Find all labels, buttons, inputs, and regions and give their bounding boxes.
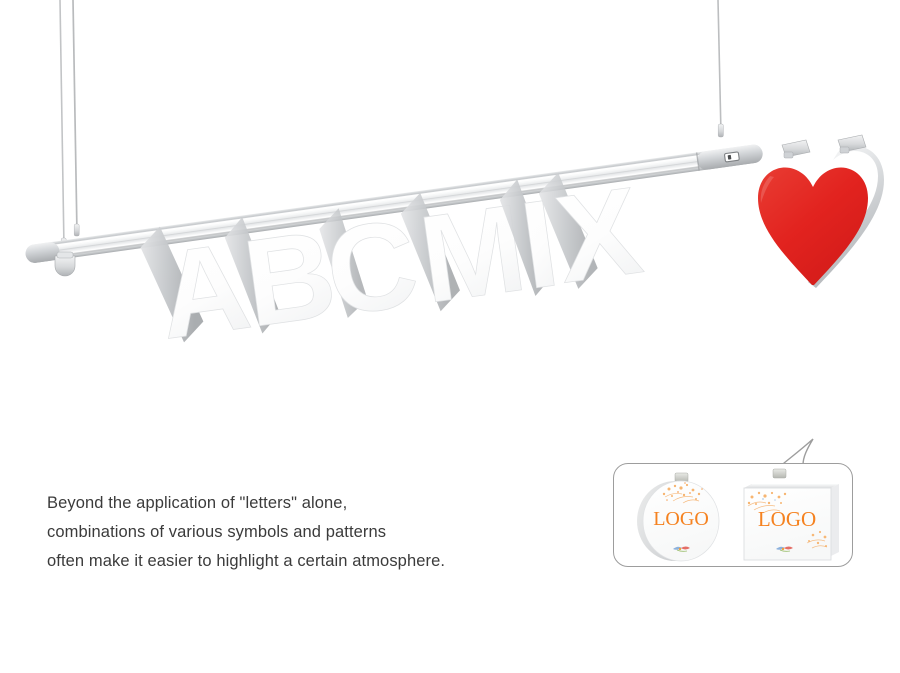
heart-face: [758, 167, 868, 285]
callout-contents: LOGO: [613, 463, 853, 567]
caption-line-3: often make it easier to highlight a cert…: [47, 547, 567, 576]
rail-connector-port: [724, 152, 739, 162]
product-illustration: Suspended aluminium track with 3D white …: [0, 0, 900, 430]
caption-line-1: Beyond the application of "letters" alon…: [47, 489, 567, 518]
cable-gripper-right: [718, 124, 723, 137]
sign-letters: A B C M: [138, 162, 649, 368]
round-light-box: LOGO: [637, 473, 719, 561]
square-box-bracket: [773, 469, 786, 478]
caption-line-2: combinations of various symbols and patt…: [47, 518, 567, 547]
page-root: Suspended aluminium track with 3D white …: [0, 0, 900, 673]
example-callout: LOGO: [613, 463, 855, 569]
round-box-logo-text: LOGO: [653, 508, 709, 530]
description-caption: Beyond the application of "letters" alon…: [47, 489, 567, 576]
heart-sign: [758, 135, 884, 288]
heart-bracket-left: [782, 140, 810, 158]
rail-mount-foot: [55, 252, 75, 276]
cable-gripper-left-inner: [74, 224, 79, 236]
square-box-logo-text: LOGO: [758, 507, 816, 531]
svg-text:X: X: [548, 162, 649, 310]
square-light-box: LOGO: [744, 469, 839, 560]
